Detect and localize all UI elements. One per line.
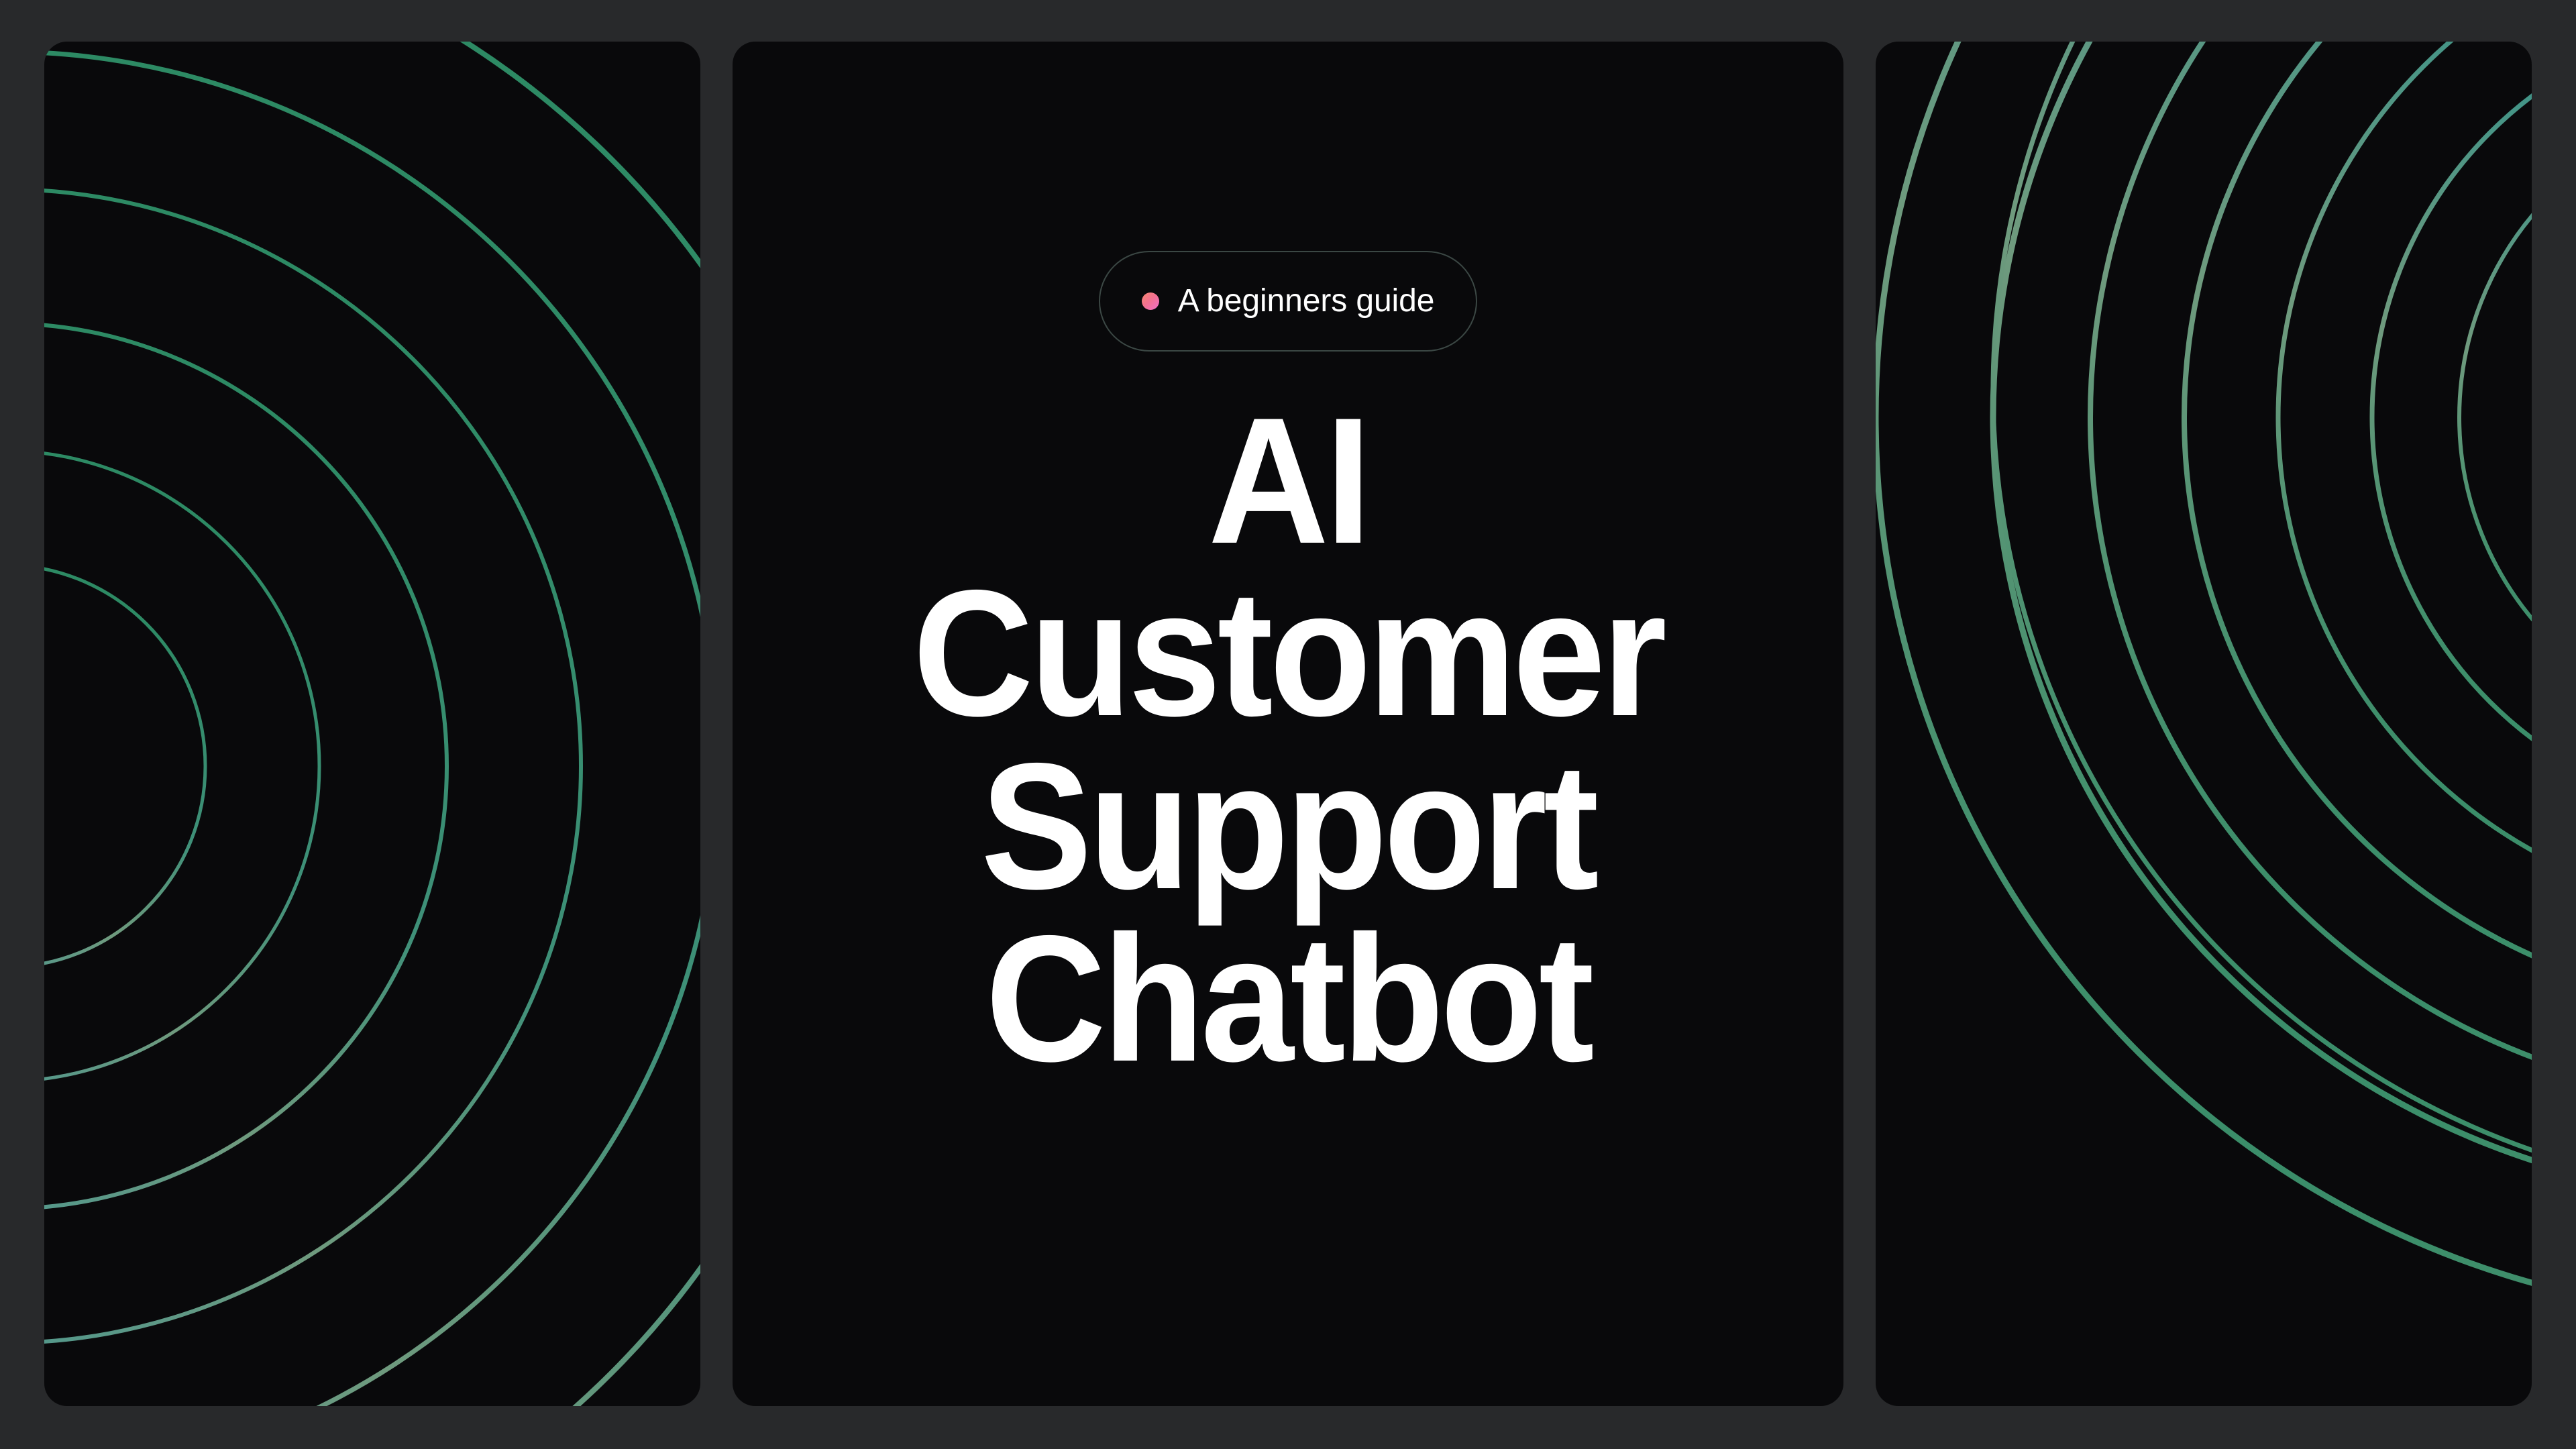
beginners-guide-badge[interactable]: A beginners guide — [1099, 251, 1478, 352]
decorative-arc-panel-left — [44, 42, 700, 1406]
hero-title-line-3: Support — [771, 740, 1805, 912]
badge-label: A beginners guide — [1178, 285, 1435, 317]
arc-pattern-left — [44, 42, 700, 1406]
hero-content-stack: A beginners guide AI Customer Support Ch… — [733, 42, 1843, 1085]
gradient-dot-icon — [1142, 292, 1159, 310]
arc-pattern-right — [1876, 42, 2532, 1406]
hero-title: AI Customer Support Chatbot — [771, 394, 1805, 1085]
hero-title-line-1: AI — [771, 394, 1805, 567]
decorative-arc-panel-right — [1876, 42, 2532, 1406]
hero-content-panel: A beginners guide AI Customer Support Ch… — [733, 42, 1843, 1406]
slide-canvas: A beginners guide AI Customer Support Ch… — [0, 0, 2576, 1449]
hero-title-line-4: Chatbot — [771, 912, 1805, 1085]
hero-title-line-2: Customer — [771, 567, 1805, 739]
